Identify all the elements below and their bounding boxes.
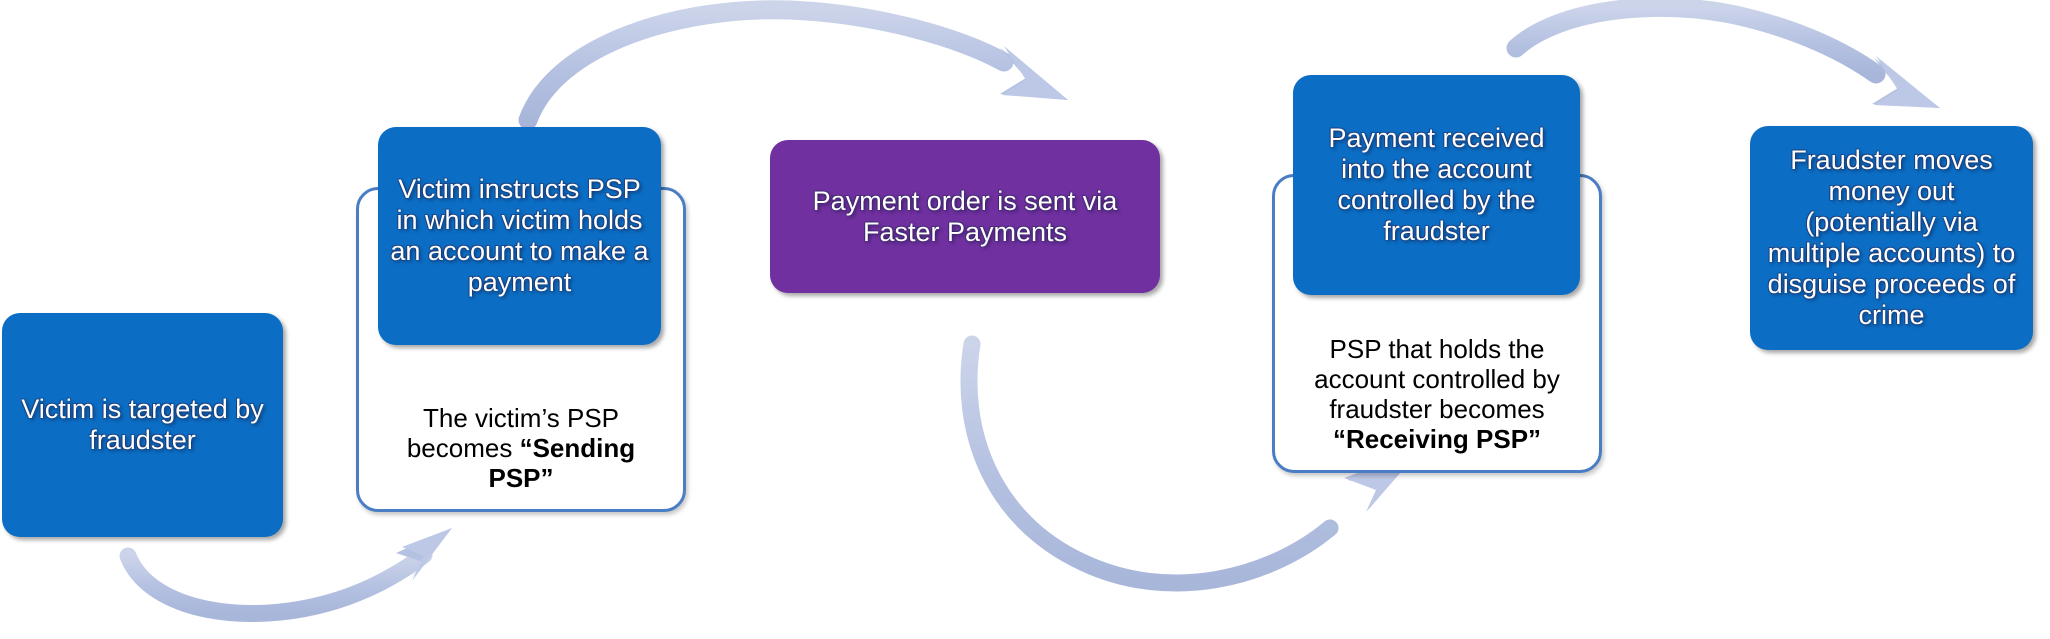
step-4-caption: PSP that holds the account controlled by… xyxy=(1275,334,1599,470)
step-4-caption-bold: “Receiving PSP” xyxy=(1333,424,1541,454)
step-1-victim-targeted[interactable]: Victim is targeted by fraudster xyxy=(2,313,283,537)
step-2-caption: The victim’s PSP becomes “Sending PSP” xyxy=(359,403,683,509)
step-2-label: Victim instructs PSP in which victim hol… xyxy=(390,174,649,298)
step-5-fraudster-moves-money[interactable]: Fraudster moves money out (potentially v… xyxy=(1750,126,2033,350)
step-3-payment-order-faster-payments[interactable]: Payment order is sent via Faster Payment… xyxy=(770,140,1160,293)
diagram-canvas: Victim is targeted by fraudster The vict… xyxy=(0,0,2050,639)
connector-layer xyxy=(0,0,2050,639)
step-2-victim-instructs-psp[interactable]: Victim instructs PSP in which victim hol… xyxy=(378,127,661,345)
arrow-1-step1-to-step2 xyxy=(128,528,452,613)
step-4-payment-received[interactable]: Payment received into the account contro… xyxy=(1293,75,1580,295)
step-4-caption-prefix: PSP that holds the account controlled by… xyxy=(1314,334,1560,424)
step-5-label: Fraudster moves money out (potentially v… xyxy=(1762,145,2021,331)
step-1-label: Victim is targeted by fraudster xyxy=(14,394,271,456)
step-3-label: Payment order is sent via Faster Payment… xyxy=(782,186,1148,248)
step-4-label: Payment received into the account contro… xyxy=(1305,123,1568,247)
arrow-2-step2-to-step3 xyxy=(528,10,1068,120)
